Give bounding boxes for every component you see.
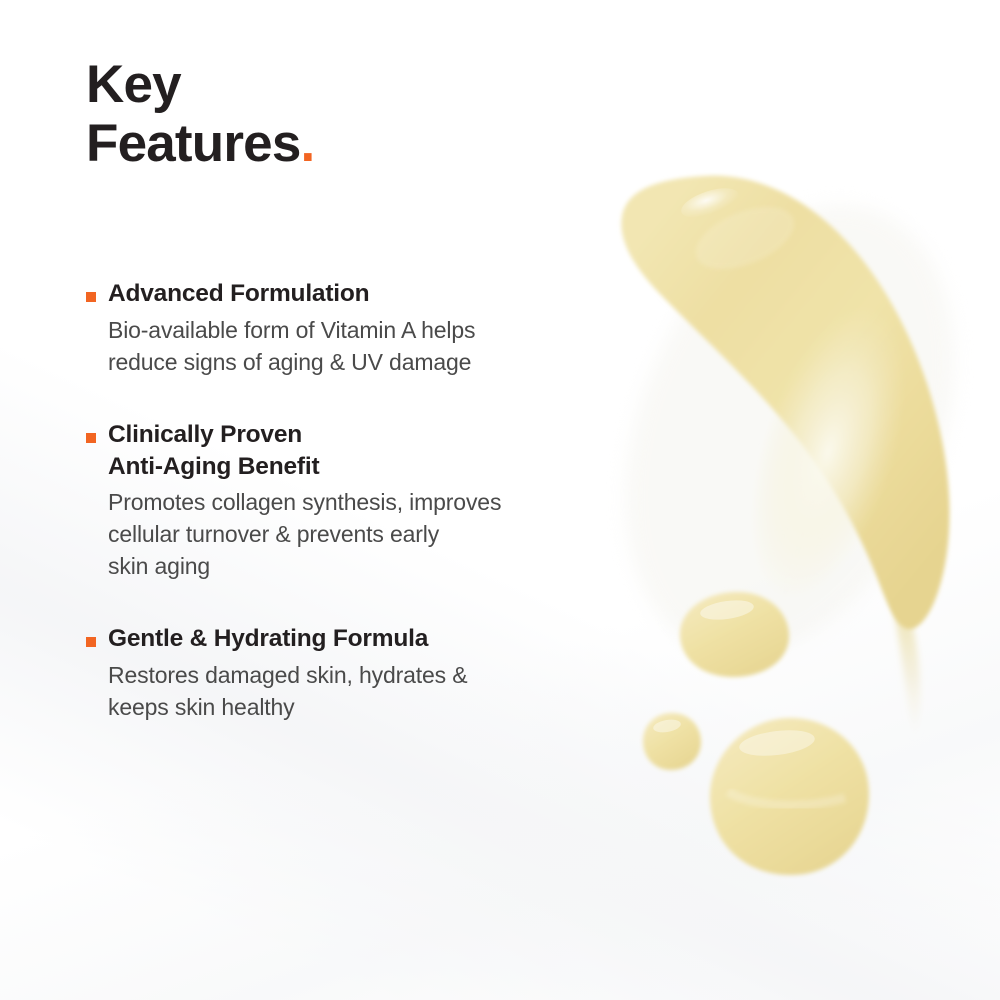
cream-soft-highlight bbox=[687, 194, 803, 281]
cream-droplet-medium bbox=[680, 592, 789, 677]
feature-description: Bio-available form of Vitamin A helps re… bbox=[108, 315, 606, 379]
product-feature-graphic: KeyFeatures. Advanced Formulation Bio-av… bbox=[0, 0, 1000, 1000]
cream-inner-sheen bbox=[720, 287, 935, 616]
feature-title: Clinically Proven Anti-Aging Benefit bbox=[108, 419, 606, 483]
feature-list: Advanced Formulation Bio-available form … bbox=[86, 278, 606, 724]
feature-title: Advanced Formulation bbox=[108, 278, 606, 310]
feature-item-gentle-hydrating: Gentle & Hydrating Formula Restores dama… bbox=[86, 623, 606, 724]
cream-gloss-highlight bbox=[678, 182, 742, 223]
feature-item-advanced-formulation: Advanced Formulation Bio-available form … bbox=[86, 278, 606, 379]
feature-title: Gentle & Hydrating Formula bbox=[108, 623, 606, 655]
cream-droplet-small-highlight bbox=[652, 718, 682, 735]
page-title-accent-period: . bbox=[301, 114, 315, 173]
square-bullet-icon bbox=[86, 433, 96, 443]
cream-main-blob bbox=[621, 176, 949, 629]
page-title-line-1: Key bbox=[86, 55, 181, 114]
feature-description: Restores damaged skin, hydrates & keeps … bbox=[108, 660, 606, 724]
cream-drip-tail bbox=[893, 595, 920, 740]
page-title: KeyFeatures. bbox=[86, 56, 314, 174]
cream-droplet-small bbox=[643, 713, 701, 770]
feature-item-clinically-proven: Clinically Proven Anti-Aging Benefit Pro… bbox=[86, 419, 606, 584]
cream-droplet-large-crease bbox=[728, 792, 845, 805]
feature-description: Promotes collagen synthesis, improves ce… bbox=[108, 487, 606, 583]
page-title-line-2: Features bbox=[86, 114, 301, 173]
square-bullet-icon bbox=[86, 292, 96, 302]
square-bullet-icon bbox=[86, 637, 96, 647]
cream-droplet-large-highlight bbox=[738, 726, 816, 759]
cream-droplet-large bbox=[710, 718, 869, 875]
cream-droplet-medium-highlight bbox=[699, 597, 755, 622]
